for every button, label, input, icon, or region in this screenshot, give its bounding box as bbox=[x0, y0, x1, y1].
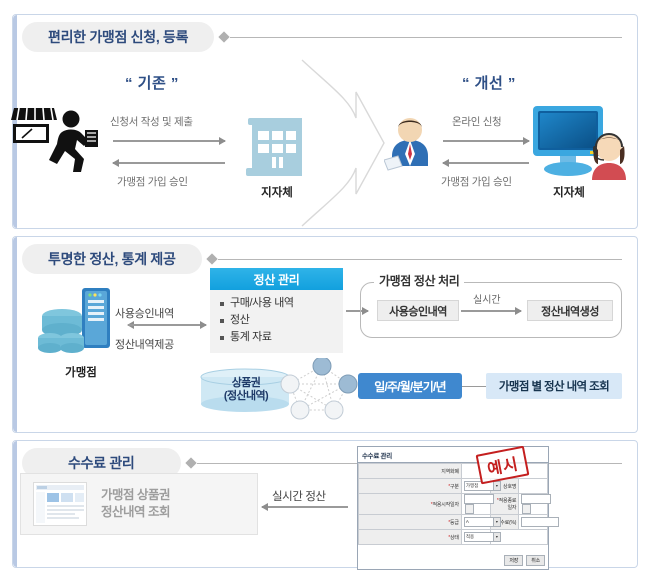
table-row: *적용시작일자 *적용종료일자 bbox=[359, 494, 548, 515]
giftcard-cylinder-label: 상품권 (정산내역) bbox=[206, 377, 286, 403]
label-existing: “ 기존 ” bbox=[125, 72, 179, 93]
headset-agent-icon bbox=[588, 130, 630, 182]
flow-label-old-submit: 신청서 작성 및 제출 bbox=[110, 114, 193, 129]
chevron-down-icon[interactable]: ▾ bbox=[493, 533, 500, 541]
flow-label-old-approve: 가맹점 가입 승인 bbox=[117, 174, 188, 189]
field-label-division: *구분 bbox=[359, 479, 462, 494]
field-value-store-name[interactable] bbox=[519, 479, 548, 494]
end-date-input[interactable] bbox=[521, 494, 551, 504]
label-improved: “ 개선 ” bbox=[462, 72, 516, 93]
flow-label-new-online: 온라인 신청 bbox=[452, 114, 501, 129]
realtime-settlement-label: 실시간 정산 bbox=[272, 488, 326, 504]
section-title-settlement: 투명한 정산, 통계 제공 bbox=[22, 244, 202, 274]
chip-connector bbox=[462, 386, 486, 387]
chevron-down-icon[interactable]: ▾ bbox=[493, 482, 500, 490]
screenshot-thumbnail-icon bbox=[33, 482, 87, 526]
process-chip-source: 사용승인내역 bbox=[377, 300, 459, 321]
arrow-old-approve bbox=[113, 162, 225, 164]
header-rule bbox=[230, 37, 622, 38]
arrow-old-submit bbox=[113, 140, 225, 142]
diamond-marker-icon bbox=[185, 457, 196, 468]
fee-query-line-1: 가맹점 상품권 bbox=[101, 487, 170, 504]
flow-label-new-approve: 가맹점 가입 승인 bbox=[441, 174, 512, 189]
fee-rate-input[interactable] bbox=[521, 517, 559, 527]
fee-query-card[interactable]: 가맹점 상품권 정산내역 조회 bbox=[20, 473, 258, 535]
field-label-region-currency: 지역화폐 bbox=[359, 464, 462, 479]
arrow-process-edge bbox=[461, 310, 521, 312]
field-label-start-date: *적용시작일자 bbox=[359, 494, 462, 515]
arrow-realtime-settlement bbox=[262, 506, 348, 508]
table-row: *상태 적용▾ bbox=[359, 530, 548, 545]
settlement-management-list: 구매/사용 내역 정산 통계 자료 bbox=[210, 290, 343, 346]
field-label-grade: *등급 bbox=[359, 515, 462, 530]
government-building-icon bbox=[246, 112, 308, 180]
status-select[interactable]: 적용▾ bbox=[464, 532, 501, 542]
fee-query-line-2: 정산내역 조회 bbox=[101, 504, 170, 521]
person-with-document-icon bbox=[384, 116, 436, 174]
chevron-down-icon[interactable]: ▾ bbox=[493, 518, 500, 526]
arrow-settlement-right bbox=[128, 324, 206, 326]
arrow-new-approve bbox=[443, 162, 529, 164]
section-header-apply: 편리한 가맹점 신청, 등록 bbox=[22, 22, 622, 52]
list-item: 정산 bbox=[220, 312, 343, 329]
transition-chevron-icon bbox=[300, 58, 386, 228]
save-button[interactable]: 저장 bbox=[504, 555, 523, 566]
header-rule bbox=[218, 259, 622, 260]
label-merchant: 가맹점 bbox=[38, 364, 124, 380]
diagram-canvas: 편리한 가맹점 신청, 등록 “ 기존 ” “ 개선 ” 신청서 작성 및 제출… bbox=[0, 0, 650, 579]
cylinder-line-2: (정산내역) bbox=[206, 390, 286, 403]
field-value-grade[interactable]: A▾ bbox=[461, 515, 490, 530]
process-edge-label: 실시간 bbox=[473, 291, 501, 306]
form-action-buttons: 저장 취소 bbox=[504, 555, 545, 566]
arrow-new-online bbox=[443, 140, 529, 142]
period-chip[interactable]: 일/주/월/분기/년 bbox=[358, 373, 462, 399]
settlement-management-box: 정산 관리 구매/사용 내역 정산 통계 자료 bbox=[210, 268, 343, 353]
calendar-icon[interactable] bbox=[522, 504, 531, 514]
table-row: *등급 A▾ *수수료(%) bbox=[359, 515, 548, 530]
field-value-status[interactable]: 적용▾ bbox=[461, 530, 490, 545]
query-chip[interactable]: 가맹점 별 정산 내역 조회 bbox=[486, 373, 622, 399]
field-label-status: *상태 bbox=[359, 530, 462, 545]
label-local-gov-old: 지자체 bbox=[246, 184, 308, 200]
calendar-icon[interactable] bbox=[465, 504, 474, 514]
flow-label-settlement-provide: 정산내역제공 bbox=[115, 336, 174, 352]
running-person-icon bbox=[46, 110, 104, 176]
fee-query-label: 가맹점 상품권 정산내역 조회 bbox=[101, 487, 170, 521]
label-local-gov-new: 지자체 bbox=[534, 184, 604, 200]
process-chip-target: 정산내역생성 bbox=[527, 300, 613, 321]
settlement-management-header: 정산 관리 bbox=[210, 268, 343, 290]
field-value-end-date[interactable] bbox=[519, 494, 548, 515]
list-item: 통계 자료 bbox=[220, 329, 343, 346]
table-row: *구분 가맹점▾ 상호명 bbox=[359, 479, 548, 494]
list-item: 구매/사용 내역 bbox=[220, 295, 343, 312]
process-group-title: 가맹점 정산 처리 bbox=[374, 272, 464, 289]
diamond-marker-icon bbox=[206, 253, 217, 264]
field-value-fee-rate[interactable] bbox=[519, 515, 548, 530]
diamond-marker-icon bbox=[219, 31, 230, 42]
grade-select[interactable]: A▾ bbox=[464, 517, 501, 527]
cancel-button[interactable]: 취소 bbox=[526, 555, 545, 566]
cylinder-line-1: 상품권 bbox=[206, 377, 286, 390]
field-value-start-date[interactable] bbox=[461, 494, 490, 515]
merchant-server-icon bbox=[38, 286, 124, 360]
field-label-end-date: *적용종료일자 bbox=[490, 494, 519, 515]
section-title-apply: 편리한 가맹점 신청, 등록 bbox=[22, 22, 214, 52]
flow-label-use-approval: 사용승인내역 bbox=[115, 305, 174, 321]
network-nodes-icon bbox=[278, 358, 358, 420]
start-date-input[interactable] bbox=[464, 494, 494, 504]
